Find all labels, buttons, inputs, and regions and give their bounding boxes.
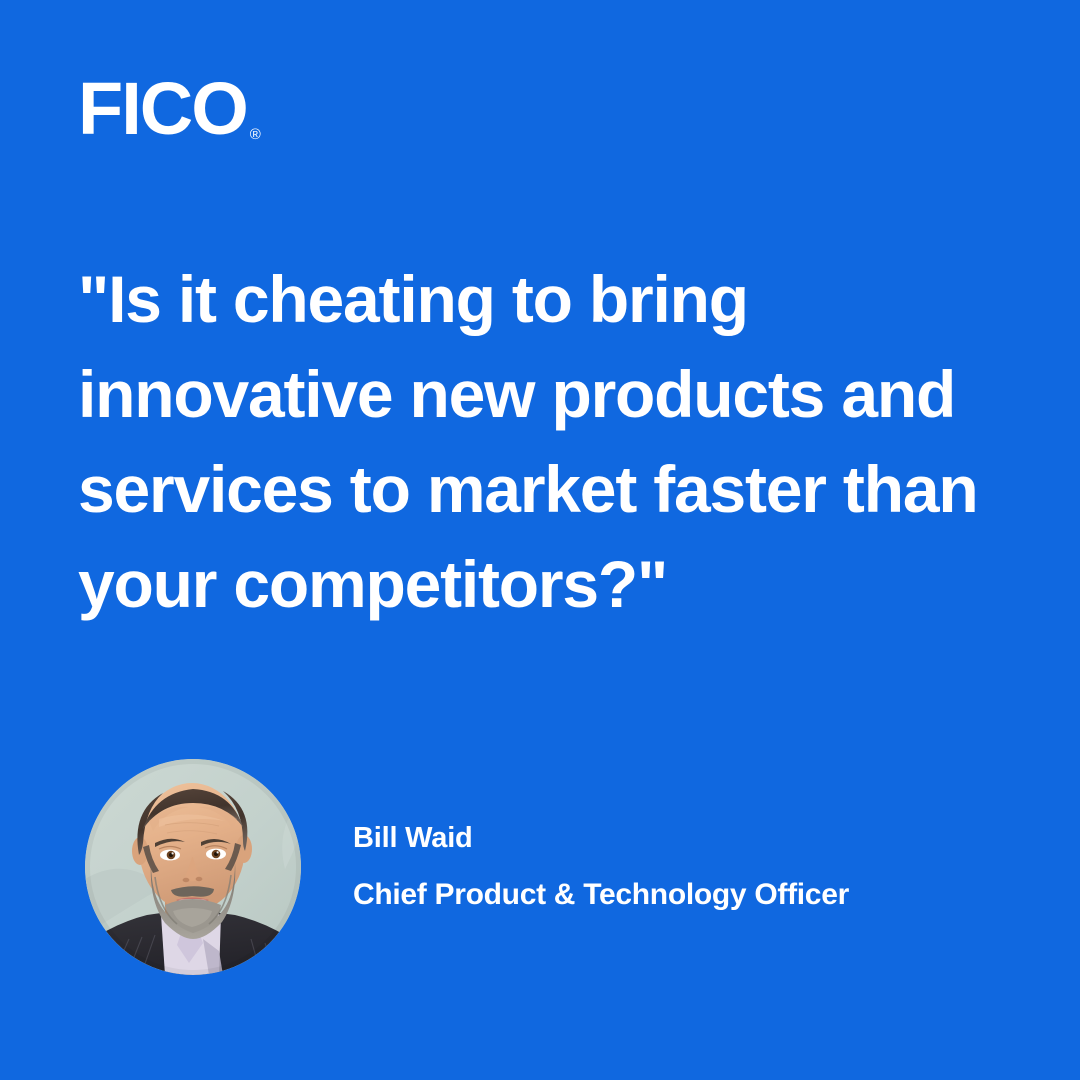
avatar bbox=[85, 759, 301, 975]
person-name: Bill Waid bbox=[353, 821, 849, 856]
quote-line: services to market faster than bbox=[78, 442, 998, 537]
pull-quote: "Is it cheating to bring innovative new … bbox=[78, 252, 998, 632]
quote-line: innovative new products and bbox=[78, 347, 998, 442]
quote-line: "Is it cheating to bring bbox=[78, 252, 998, 347]
quote-line: your competitors?" bbox=[78, 537, 998, 632]
person-portrait-icon bbox=[85, 759, 301, 975]
attribution-text: Bill Waid Chief Product & Technology Off… bbox=[353, 821, 849, 914]
registered-trademark-icon: ® bbox=[250, 127, 261, 142]
fico-logo-wordmark: FICO bbox=[78, 72, 247, 146]
person-title: Chief Product & Technology Officer bbox=[353, 877, 849, 913]
quote-card: FICO ® "Is it cheating to bring innovati… bbox=[0, 0, 1080, 1080]
fico-logo: FICO ® bbox=[78, 72, 261, 146]
attribution-block: Bill Waid Chief Product & Technology Off… bbox=[85, 757, 985, 977]
